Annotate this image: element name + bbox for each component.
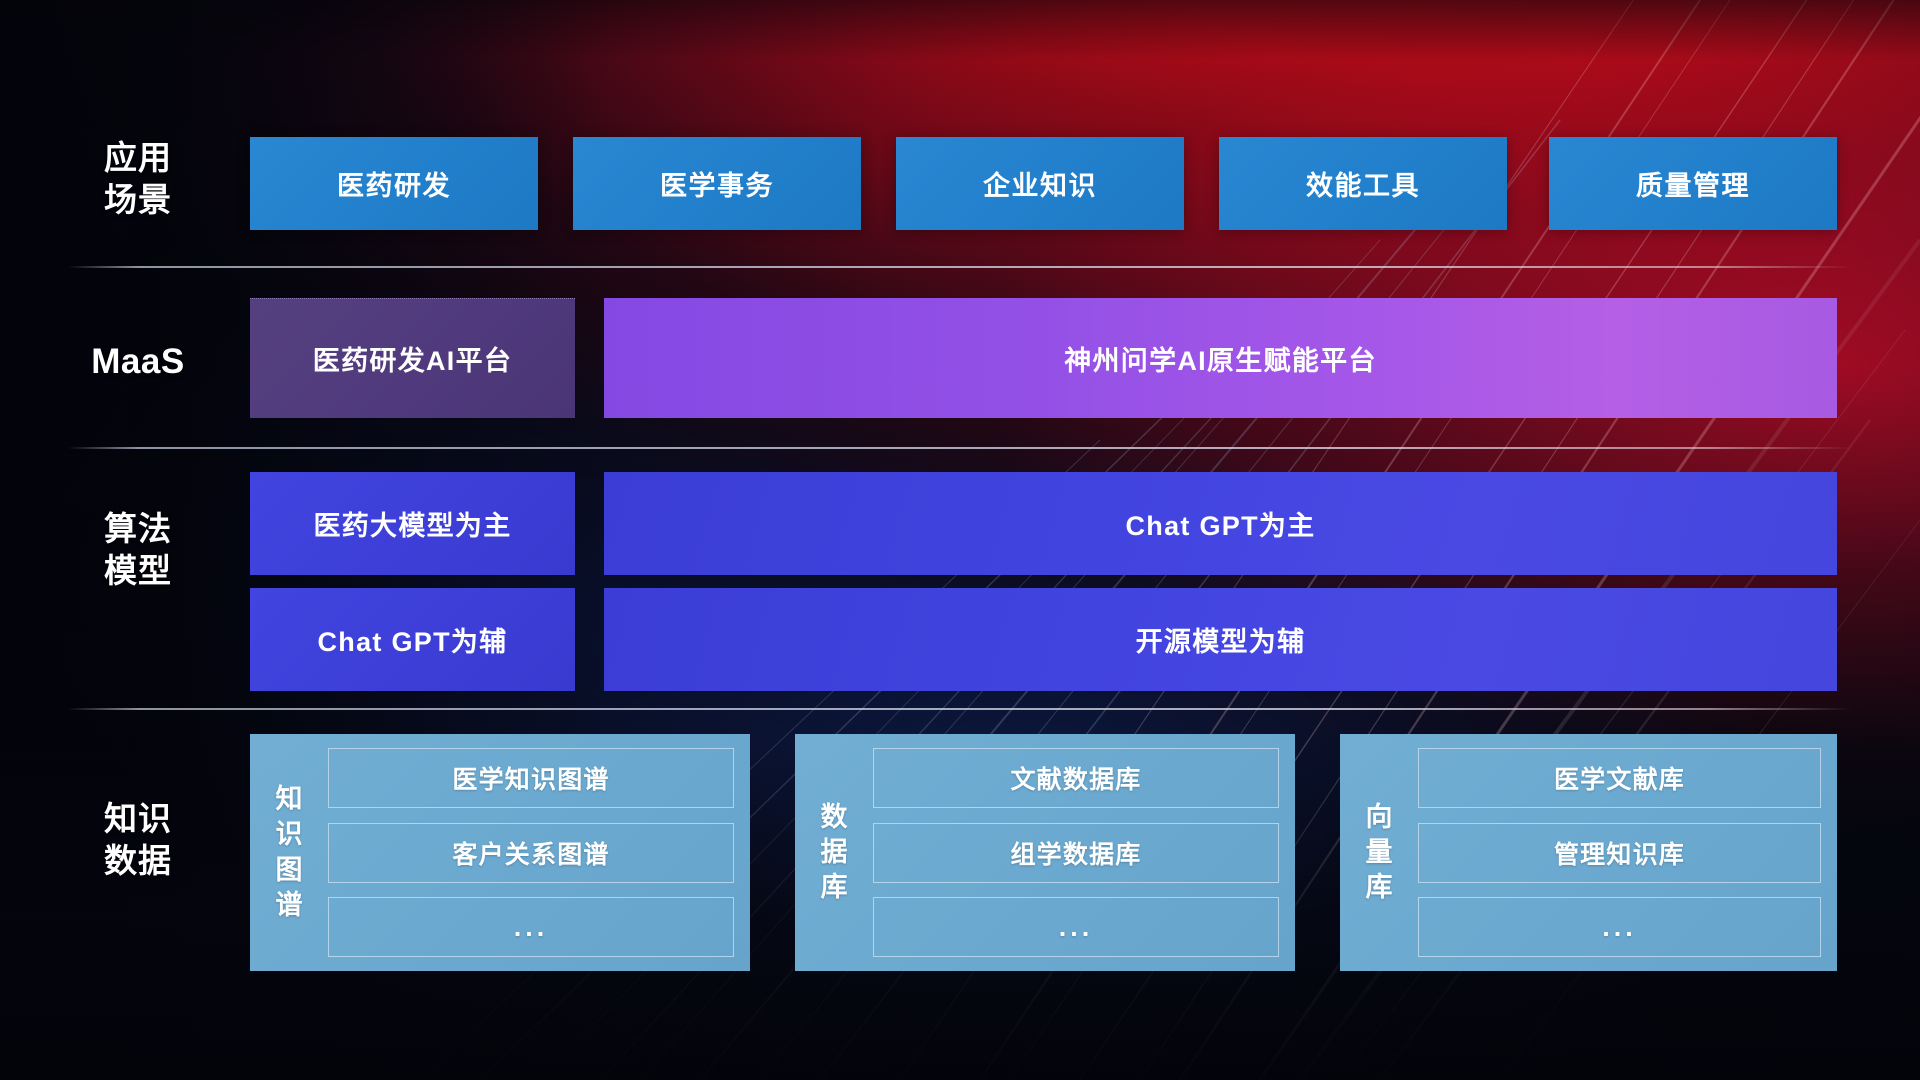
tier-label-maas-text: MaaS [68, 340, 208, 384]
knowledge-item-2-3-label: ... [1059, 912, 1094, 943]
knowledge-item-3-2-label: 管理知识库 [1554, 835, 1685, 871]
knowledge-item-1-1-label: 医学知识图谱 [452, 760, 609, 796]
vlabel-char: 向 [1366, 800, 1393, 835]
tier-label-maas: MaaS [68, 340, 208, 384]
vlabel-char: 量 [1366, 835, 1393, 870]
knowledge-panel-1-vertical-label: 知 识 图 谱 [260, 748, 318, 957]
knowledge-panel-database[interactable]: 数 据 库 文献数据库 组学数据库 ... [795, 734, 1295, 971]
tier-label-algorithm-models: 算法 模型 [68, 508, 208, 592]
tier-label-algo-line2: 模型 [68, 550, 208, 592]
tier-divider-2 [68, 447, 1852, 449]
vlabel-char: 据 [821, 835, 848, 870]
tier-divider-1 [68, 266, 1852, 268]
knowledge-item-2-1[interactable]: 文献数据库 [873, 748, 1279, 808]
algo-box-row2-left[interactable]: Chat GPT为辅 [250, 588, 575, 691]
app-box-4[interactable]: 效能工具 [1219, 137, 1507, 230]
knowledge-item-2-1-label: 文献数据库 [1010, 760, 1141, 796]
algo-row2-right-label: 开源模型为辅 [1136, 620, 1306, 659]
knowledge-panel-2-items: 文献数据库 组学数据库 ... [863, 748, 1279, 957]
vlabel-char: 库 [1366, 870, 1393, 905]
vlabel-char: 图 [276, 853, 303, 888]
app-box-1[interactable]: 医药研发 [250, 137, 538, 230]
vlabel-char: 识 [276, 817, 303, 852]
knowledge-item-1-2[interactable]: 客户关系图谱 [328, 823, 734, 883]
tier-label-algo-line1: 算法 [68, 508, 208, 550]
knowledge-item-3-2[interactable]: 管理知识库 [1418, 823, 1821, 883]
algo-row2-left-label: Chat GPT为辅 [317, 620, 507, 659]
knowledge-item-2-3[interactable]: ... [873, 897, 1279, 957]
tier-label-line1: 应用 [68, 137, 208, 179]
app-box-3[interactable]: 企业知识 [896, 137, 1184, 230]
maas-right-label: 神州问学AI原生赋能平台 [1064, 339, 1377, 378]
maas-left-label: 医药研发AI平台 [313, 339, 512, 378]
architecture-diagram: 应用 场景 医药研发 医学事务 企业知识 效能工具 质量管理 MaaS 医药研发… [0, 0, 1920, 1080]
vlabel-char: 知 [276, 782, 303, 817]
vlabel-char: 库 [821, 870, 848, 905]
app-box-2[interactable]: 医学事务 [573, 137, 861, 230]
tier-label-knowledge-line2: 数据 [68, 840, 208, 882]
knowledge-item-3-3-label: ... [1602, 912, 1637, 943]
app-box-5-label: 质量管理 [1636, 164, 1750, 203]
knowledge-item-1-1[interactable]: 医学知识图谱 [328, 748, 734, 808]
app-box-1-label: 医药研发 [337, 164, 451, 203]
knowledge-item-1-3-label: ... [514, 912, 549, 943]
algo-box-row1-left[interactable]: 医药大模型为主 [250, 472, 575, 575]
algo-row1-left-label: 医药大模型为主 [313, 504, 511, 543]
maas-platform-box-right[interactable]: 神州问学AI原生赋能平台 [604, 298, 1837, 418]
slide-canvas: 应用 场景 医药研发 医学事务 企业知识 效能工具 质量管理 MaaS 医药研发… [0, 0, 1920, 1080]
knowledge-item-2-2-label: 组学数据库 [1010, 835, 1141, 871]
app-box-2-label: 医学事务 [660, 164, 774, 203]
knowledge-panel-vector-store[interactable]: 向 量 库 医学文献库 管理知识库 ... [1340, 734, 1837, 971]
algo-row1-right-label: Chat GPT为主 [1125, 504, 1315, 543]
knowledge-item-3-3[interactable]: ... [1418, 897, 1821, 957]
knowledge-panel-3-items: 医学文献库 管理知识库 ... [1408, 748, 1821, 957]
tier-label-knowledge-line1: 知识 [68, 798, 208, 840]
knowledge-panel-2-vertical-label: 数 据 库 [805, 748, 863, 957]
knowledge-item-1-3[interactable]: ... [328, 897, 734, 957]
tier-label-knowledge-data: 知识 数据 [68, 798, 208, 882]
knowledge-item-3-1[interactable]: 医学文献库 [1418, 748, 1821, 808]
vlabel-char: 数 [821, 800, 848, 835]
knowledge-panel-3-vertical-label: 向 量 库 [1350, 748, 1408, 957]
tier-label-application-scenarios: 应用 场景 [68, 137, 208, 221]
knowledge-item-1-2-label: 客户关系图谱 [452, 835, 609, 871]
knowledge-item-2-2[interactable]: 组学数据库 [873, 823, 1279, 883]
knowledge-panel-knowledge-graph[interactable]: 知 识 图 谱 医学知识图谱 客户关系图谱 ... [250, 734, 750, 971]
maas-platform-box-left[interactable]: 医药研发AI平台 [250, 298, 575, 418]
algo-box-row1-right[interactable]: Chat GPT为主 [604, 472, 1837, 575]
algo-box-row2-right[interactable]: 开源模型为辅 [604, 588, 1837, 691]
knowledge-panel-1-items: 医学知识图谱 客户关系图谱 ... [318, 748, 734, 957]
tier-label-line2: 场景 [68, 179, 208, 221]
app-box-4-label: 效能工具 [1306, 164, 1420, 203]
app-box-5[interactable]: 质量管理 [1549, 137, 1837, 230]
app-box-3-label: 企业知识 [983, 164, 1097, 203]
knowledge-item-3-1-label: 医学文献库 [1554, 760, 1685, 796]
tier-divider-3 [68, 708, 1852, 710]
vlabel-char: 谱 [276, 888, 303, 923]
